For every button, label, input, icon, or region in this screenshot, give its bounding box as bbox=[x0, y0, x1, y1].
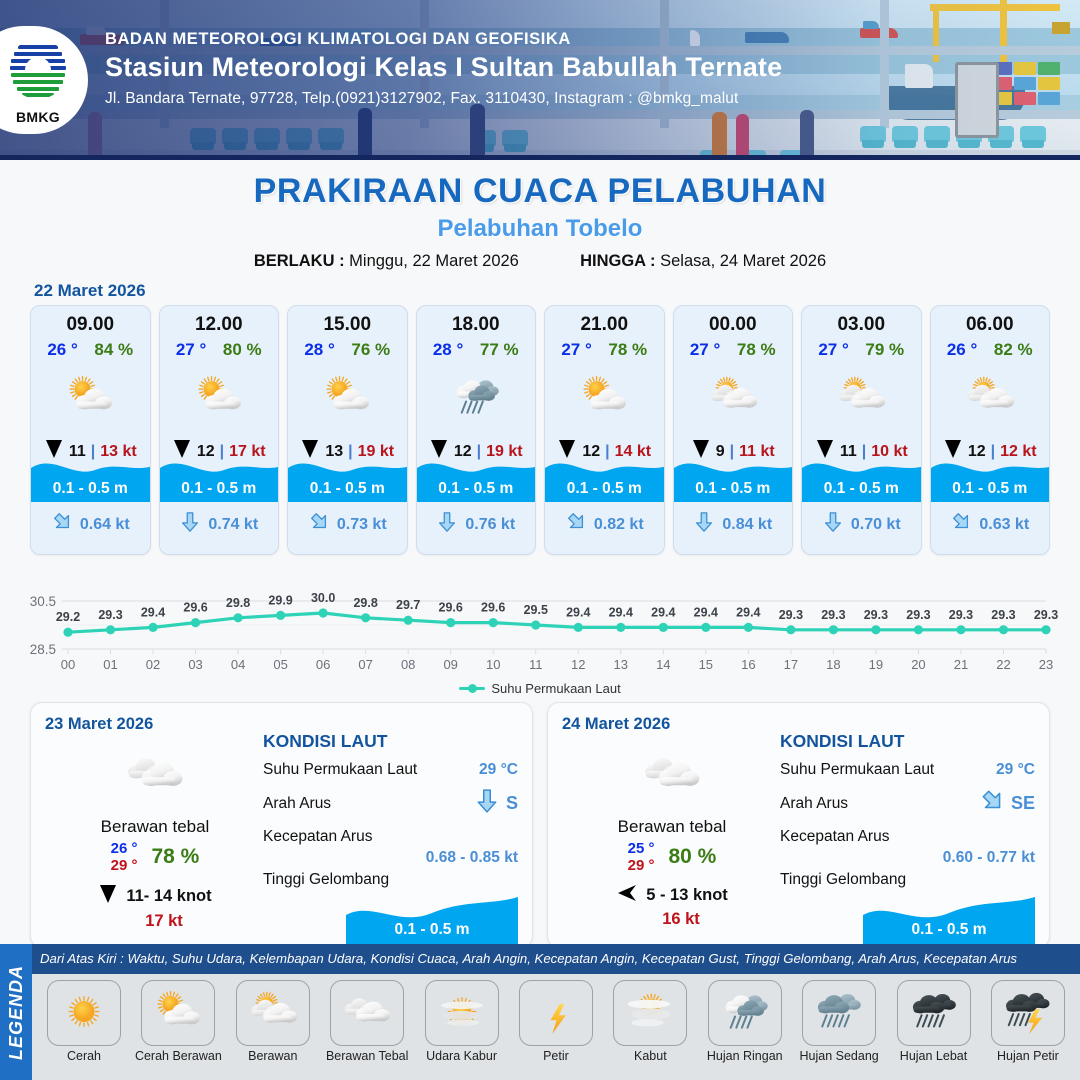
card-current-speed: 0.73 kt bbox=[337, 516, 387, 534]
sst-value: 29 °C bbox=[479, 761, 518, 779]
chart-x-tick: 08 bbox=[401, 657, 415, 672]
cerah-berawan-icon bbox=[31, 364, 150, 432]
chart-legend: Suhu Permukaan Laut bbox=[0, 681, 1080, 696]
berawan-icon bbox=[802, 364, 921, 432]
chart-data-label: 29.3 bbox=[821, 608, 845, 622]
legend-item: Cerah bbox=[40, 980, 128, 1063]
legend-item-label: Petir bbox=[512, 1049, 600, 1063]
legend-item: Berawan Tebal bbox=[323, 980, 411, 1063]
chart-data-label: 29.3 bbox=[1034, 608, 1058, 622]
bmkg-logo-text: BMKG bbox=[5, 109, 71, 125]
chart-data-label: 29.4 bbox=[566, 605, 590, 619]
legend-note: Dari Atas Kiri : Waktu, Suhu Udara, Kele… bbox=[40, 951, 1074, 966]
panel-temp-min: 25 ° bbox=[628, 840, 655, 857]
panel-wave-graphic: 0.1 - 0.5 m bbox=[346, 895, 518, 947]
valid-from-label: BERLAKU : bbox=[254, 252, 345, 270]
legend-item-label: Berawan bbox=[229, 1049, 317, 1063]
chart-data-label: 29.3 bbox=[779, 608, 803, 622]
daily-summary-panel: 24 Maret 2026 Berawan tebal 25 ° 29 ° bbox=[547, 702, 1050, 948]
berawan-icon bbox=[236, 980, 310, 1046]
card-humidity: 76 % bbox=[351, 340, 390, 360]
hourly-forecast-row: 09.00 26 ° 84 % 11 | 13 kt 0.1 bbox=[0, 305, 1080, 555]
legend-line-marker-icon bbox=[459, 687, 485, 690]
card-current-speed: 0.63 kt bbox=[979, 516, 1029, 534]
current-direction-value: S bbox=[506, 793, 518, 814]
chart-data-label: 29.9 bbox=[268, 593, 292, 607]
chart-x-tick: 05 bbox=[273, 657, 287, 672]
card-humidity: 78 % bbox=[608, 340, 647, 360]
legend-item: Udara Kabur bbox=[418, 980, 506, 1063]
berawan-icon bbox=[674, 364, 793, 432]
chart-x-tick: 16 bbox=[741, 657, 755, 672]
chart-data-label: 29.3 bbox=[991, 608, 1015, 622]
legend-item-label: Hujan Lebat bbox=[890, 1049, 978, 1063]
arrow-down-icon bbox=[474, 788, 500, 819]
card-current-speed: 0.64 kt bbox=[80, 516, 130, 534]
station-address: Jl. Bandara Ternate, 97728, Telp.(0921)3… bbox=[105, 90, 965, 108]
panel-wave-height: 0.1 - 0.5 m bbox=[346, 921, 518, 939]
sea-conditions-heading: KONDISI LAUT bbox=[263, 731, 518, 752]
cerah-berawan-icon bbox=[141, 980, 215, 1046]
card-humidity: 84 % bbox=[94, 340, 133, 360]
daily-summary-panel: 23 Maret 2026 Berawan tebal 26 ° 29 ° bbox=[30, 702, 533, 948]
panel-gust: 17 kt bbox=[73, 912, 255, 931]
card-current-speed: 0.84 kt bbox=[722, 516, 772, 534]
current-direction-icon bbox=[950, 511, 972, 538]
card-time: 21.00 bbox=[545, 314, 664, 336]
card-current-speed: 0.82 kt bbox=[594, 516, 644, 534]
chart-x-tick: 18 bbox=[826, 657, 840, 672]
cerah-icon bbox=[47, 980, 121, 1046]
legend-item: Hujan Lebat bbox=[890, 980, 978, 1063]
card-time: 06.00 bbox=[931, 314, 1050, 336]
legend-item: Kabut bbox=[606, 980, 694, 1063]
sst-label: Suhu Permukaan Laut bbox=[263, 761, 417, 779]
current-direction-label: Arah Arus bbox=[780, 795, 848, 813]
hujan-petir-icon bbox=[991, 980, 1065, 1046]
page-title: PRAKIRAAN CUACA PELABUHAN bbox=[0, 172, 1080, 211]
card-temperature: 28 ° bbox=[433, 340, 463, 360]
legend-item: Berawan bbox=[229, 980, 317, 1063]
hourly-card: 21.00 27 ° 78 % 12 | 14 kt 0.1 bbox=[544, 305, 665, 555]
chart-data-label: 29.4 bbox=[141, 605, 165, 619]
card-time: 18.00 bbox=[417, 314, 536, 336]
panel-gust: 16 kt bbox=[590, 910, 772, 929]
legend-footer: LEGENDA Dari Atas Kiri : Waktu, Suhu Uda… bbox=[0, 944, 1080, 1080]
chart-data-label: 29.4 bbox=[609, 605, 633, 619]
chart-data-label: 29.6 bbox=[183, 601, 207, 615]
hourly-card: 09.00 26 ° 84 % 11 | 13 kt 0.1 bbox=[30, 305, 151, 555]
current-speed-label: Kecepatan Arus bbox=[263, 828, 518, 846]
panel-condition: Berawan tebal bbox=[55, 817, 255, 837]
chart-x-tick: 13 bbox=[614, 657, 628, 672]
agency-name: BADAN METEOROLOGI KLIMATOLOGI DAN GEOFIS… bbox=[105, 30, 965, 49]
current-speed-label: Kecepatan Arus bbox=[780, 828, 1035, 846]
card-time: 15.00 bbox=[288, 314, 407, 336]
chart-y-tick: 30.5 bbox=[30, 594, 56, 609]
card-wave-height: 0.1 - 0.5 m bbox=[417, 480, 536, 498]
chart-x-tick: 17 bbox=[784, 657, 798, 672]
card-current-speed: 0.74 kt bbox=[208, 516, 258, 534]
card-wave-height: 0.1 - 0.5 m bbox=[31, 480, 150, 498]
legend-item-label: Cerah bbox=[40, 1049, 128, 1063]
legend-side-tab: LEGENDA bbox=[0, 944, 32, 1080]
card-temperature: 27 ° bbox=[561, 340, 591, 360]
valid-from-value: Minggu, 22 Maret 2026 bbox=[349, 252, 519, 270]
chart-x-tick: 07 bbox=[358, 657, 372, 672]
hourly-date-label: 22 Maret 2026 bbox=[34, 281, 1080, 301]
current-direction-icon bbox=[436, 511, 458, 538]
kabut-icon bbox=[613, 980, 687, 1046]
panel-temp-max: 29 ° bbox=[628, 857, 655, 874]
page-header: BMKG BADAN METEOROLOGI KLIMATOLOGI DAN G… bbox=[0, 0, 1080, 160]
arrow-down-right-icon bbox=[979, 788, 1005, 819]
legend-item-label: Hujan Petir bbox=[984, 1049, 1072, 1063]
chart-x-tick: 14 bbox=[656, 657, 670, 672]
chart-data-label: 30.0 bbox=[311, 591, 335, 605]
chart-data-label: 29.2 bbox=[56, 610, 80, 624]
chart-x-tick: 15 bbox=[699, 657, 713, 672]
card-humidity: 80 % bbox=[223, 340, 262, 360]
chart-x-tick: 02 bbox=[146, 657, 160, 672]
chart-data-label: 29.3 bbox=[98, 608, 122, 622]
valid-to-label: HINGGA : bbox=[580, 252, 655, 270]
chart-x-tick: 06 bbox=[316, 657, 330, 672]
wave-height-label: Tinggi Gelombang bbox=[263, 871, 518, 889]
valid-to-value: Selasa, 24 Maret 2026 bbox=[660, 252, 826, 270]
card-wave-height: 0.1 - 0.5 m bbox=[802, 480, 921, 498]
hourly-card: 15.00 28 ° 76 % 13 | 19 kt 0.1 bbox=[287, 305, 408, 555]
chart-data-label: 29.7 bbox=[396, 598, 420, 612]
wind-arrow-down-icon bbox=[98, 883, 118, 910]
chart-x-tick: 03 bbox=[188, 657, 202, 672]
legend-side-label: LEGENDA bbox=[6, 964, 27, 1059]
berawan-tebal-icon bbox=[572, 747, 772, 805]
chart-data-label: 29.4 bbox=[651, 605, 675, 619]
legend-item-label: Hujan Sedang bbox=[795, 1049, 883, 1063]
validity-range: BERLAKU : Minggu, 22 Maret 2026 HINGGA :… bbox=[0, 252, 1080, 271]
hourly-card: 00.00 27 ° 78 % 9 | 11 kt bbox=[673, 305, 794, 555]
chart-x-tick: 01 bbox=[103, 657, 117, 672]
chart-x-tick: 11 bbox=[529, 657, 543, 672]
chart-data-label: 29.4 bbox=[736, 605, 760, 619]
station-name: Stasiun Meteorologi Kelas I Sultan Babul… bbox=[105, 52, 965, 83]
wave-height-label: Tinggi Gelombang bbox=[780, 871, 1035, 889]
legend-label-sst: Suhu Permukaan Laut bbox=[491, 681, 620, 696]
chart-data-label: 29.3 bbox=[906, 608, 930, 622]
card-time: 12.00 bbox=[160, 314, 279, 336]
card-temperature: 27 ° bbox=[690, 340, 720, 360]
card-current-speed: 0.76 kt bbox=[465, 516, 515, 534]
cerah-berawan-icon bbox=[288, 364, 407, 432]
chart-x-tick: 23 bbox=[1039, 657, 1053, 672]
card-temperature: 28 ° bbox=[304, 340, 334, 360]
cerah-berawan-icon bbox=[545, 364, 664, 432]
card-humidity: 78 % bbox=[737, 340, 776, 360]
panel-humidity: 78 % bbox=[151, 845, 199, 869]
current-direction-icon bbox=[822, 511, 844, 538]
chart-x-tick: 21 bbox=[954, 657, 968, 672]
legend-item-label: Udara Kabur bbox=[418, 1049, 506, 1063]
legend-item: Petir bbox=[512, 980, 600, 1063]
card-temperature: 27 ° bbox=[176, 340, 206, 360]
hourly-card: 03.00 27 ° 79 % 11 | 10 kt bbox=[801, 305, 922, 555]
hourly-card: 18.00 28 ° 77 % 12 bbox=[416, 305, 537, 555]
berawan-tebal-icon bbox=[330, 980, 404, 1046]
card-time: 00.00 bbox=[674, 314, 793, 336]
chart-x-tick: 19 bbox=[869, 657, 883, 672]
header-bottom-rule bbox=[0, 155, 1080, 160]
card-time: 03.00 bbox=[802, 314, 921, 336]
panel-humidity: 80 % bbox=[668, 845, 716, 869]
card-wave-height: 0.1 - 0.5 m bbox=[160, 480, 279, 498]
panel-temp-max: 29 ° bbox=[111, 857, 138, 874]
current-direction-value: SE bbox=[1011, 793, 1035, 814]
card-temperature: 26 ° bbox=[47, 340, 77, 360]
hourly-card: 06.00 26 ° 82 % 12 | 12 kt bbox=[930, 305, 1051, 555]
panel-temp-min: 26 ° bbox=[111, 840, 138, 857]
sst-value: 29 °C bbox=[996, 761, 1035, 779]
chart-data-label: 29.6 bbox=[439, 601, 463, 615]
chart-data-label: 29.8 bbox=[226, 596, 250, 610]
chart-x-tick: 22 bbox=[996, 657, 1010, 672]
hujan-ringan-icon bbox=[708, 980, 782, 1046]
card-temperature: 27 ° bbox=[818, 340, 848, 360]
title-block: PRAKIRAAN CUACA PELABUHAN Pelabuhan Tobe… bbox=[0, 160, 1080, 271]
chart-data-label: 29.5 bbox=[524, 603, 548, 617]
legend-item: Hujan Petir bbox=[984, 980, 1072, 1063]
bmkg-emblem-icon bbox=[8, 39, 68, 99]
legend-item-label: Kabut bbox=[606, 1049, 694, 1063]
current-direction-label: Arah Arus bbox=[263, 795, 331, 813]
chart-x-tick: 04 bbox=[231, 657, 245, 672]
legend-item: Cerah Berawan bbox=[134, 980, 222, 1063]
petir-icon bbox=[519, 980, 593, 1046]
card-temperature: 26 ° bbox=[947, 340, 977, 360]
card-wave-height: 0.1 - 0.5 m bbox=[674, 480, 793, 498]
chart-y-tick: 28.5 bbox=[30, 642, 56, 657]
page-subtitle: Pelabuhan Tobelo bbox=[0, 215, 1080, 243]
sea-conditions-heading: KONDISI LAUT bbox=[780, 731, 1035, 752]
card-current-speed: 0.70 kt bbox=[851, 516, 901, 534]
current-direction-icon bbox=[565, 511, 587, 538]
udara-kabur-icon bbox=[425, 980, 499, 1046]
card-humidity: 77 % bbox=[480, 340, 519, 360]
panel-wind-range: 5 - 13 knot bbox=[646, 886, 728, 905]
current-speed-value: 0.60 - 0.77 kt bbox=[780, 849, 1035, 867]
chart-x-tick: 09 bbox=[443, 657, 457, 672]
wind-arrow-left-icon bbox=[616, 883, 638, 908]
panel-wave-graphic: 0.1 - 0.5 m bbox=[863, 895, 1035, 947]
berawan-tebal-icon bbox=[55, 747, 255, 805]
hujan-ringan-icon bbox=[417, 364, 536, 432]
hujan-lebat-icon bbox=[897, 980, 971, 1046]
card-wave-height: 0.1 - 0.5 m bbox=[288, 480, 407, 498]
berawan-icon bbox=[931, 364, 1050, 432]
card-wave-height: 0.1 - 0.5 m bbox=[545, 480, 664, 498]
current-direction-icon bbox=[308, 511, 330, 538]
card-time: 09.00 bbox=[31, 314, 150, 336]
chart-x-tick: 00 bbox=[61, 657, 75, 672]
chart-data-label: 29.6 bbox=[481, 601, 505, 615]
chart-data-label: 29.3 bbox=[949, 608, 973, 622]
legend-item-label: Hujan Ringan bbox=[701, 1049, 789, 1063]
cerah-berawan-icon bbox=[160, 364, 279, 432]
daily-panels: 23 Maret 2026 Berawan tebal 26 ° 29 ° bbox=[0, 696, 1080, 948]
hujan-sedang-icon bbox=[802, 980, 876, 1046]
legend-icon-strip: Cerah Cerah Berawan bbox=[32, 974, 1080, 1080]
panel-condition: Berawan tebal bbox=[572, 817, 772, 837]
chart-x-tick: 12 bbox=[571, 657, 585, 672]
current-speed-value: 0.68 - 0.85 kt bbox=[263, 849, 518, 867]
current-direction-icon bbox=[693, 511, 715, 538]
panel-wind-range: 11- 14 knot bbox=[126, 887, 211, 906]
sst-label: Suhu Permukaan Laut bbox=[780, 761, 934, 779]
card-humidity: 79 % bbox=[865, 340, 904, 360]
legend-item: Hujan Sedang bbox=[795, 980, 883, 1063]
panel-wave-height: 0.1 - 0.5 m bbox=[863, 921, 1035, 939]
chart-data-label: 29.3 bbox=[864, 608, 888, 622]
card-humidity: 82 % bbox=[994, 340, 1033, 360]
hourly-card: 12.00 27 ° 80 % 12 | 17 kt 0.1 bbox=[159, 305, 280, 555]
card-wave-height: 0.1 - 0.5 m bbox=[931, 480, 1050, 498]
chart-x-tick: 20 bbox=[911, 657, 925, 672]
chart-x-tick: 10 bbox=[486, 657, 500, 672]
chart-data-label: 29.4 bbox=[694, 605, 718, 619]
sst-chart: 30.528.500010203040506070809101112131415… bbox=[20, 567, 1060, 679]
chart-data-label: 29.8 bbox=[353, 596, 377, 610]
legend-item: Hujan Ringan bbox=[701, 980, 789, 1063]
current-direction-icon bbox=[51, 511, 73, 538]
legend-item-label: Cerah Berawan bbox=[134, 1049, 222, 1063]
current-direction-icon bbox=[179, 511, 201, 538]
legend-item-label: Berawan Tebal bbox=[323, 1049, 411, 1063]
